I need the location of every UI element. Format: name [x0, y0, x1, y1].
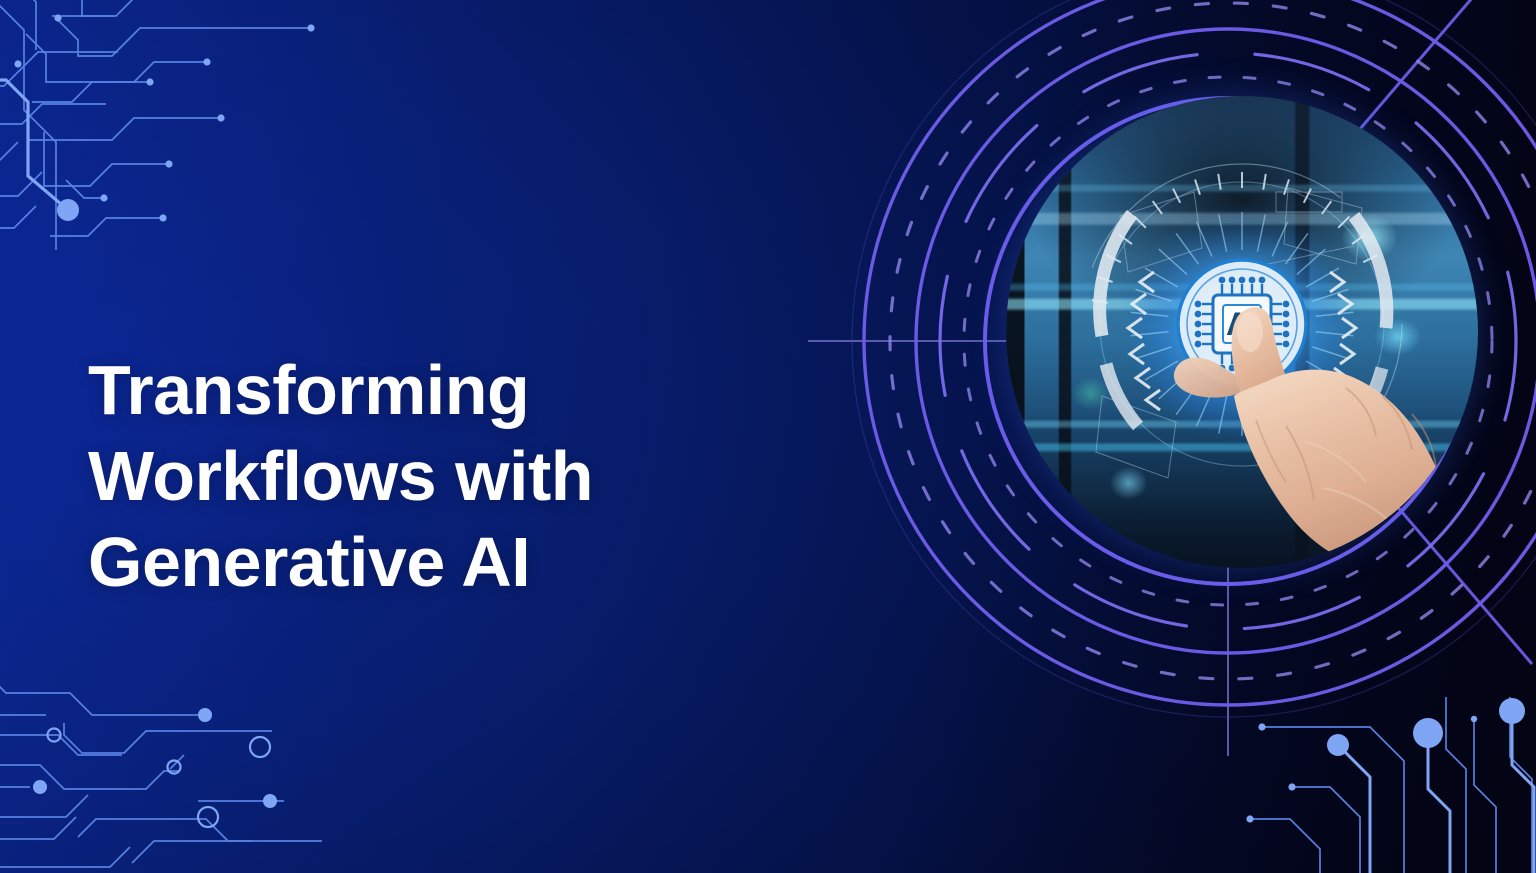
headline-line-2: Workflows with: [88, 433, 708, 519]
ai-hand-photo: AI: [1006, 96, 1478, 568]
hero-banner: AI: [0, 0, 1536, 873]
pointing-hand: [1006, 96, 1478, 568]
headline-line-1: Transforming: [88, 347, 708, 433]
headline-line-3: Generative AI: [88, 519, 708, 605]
page-title: Transforming Workflows with Generative A…: [88, 347, 708, 605]
